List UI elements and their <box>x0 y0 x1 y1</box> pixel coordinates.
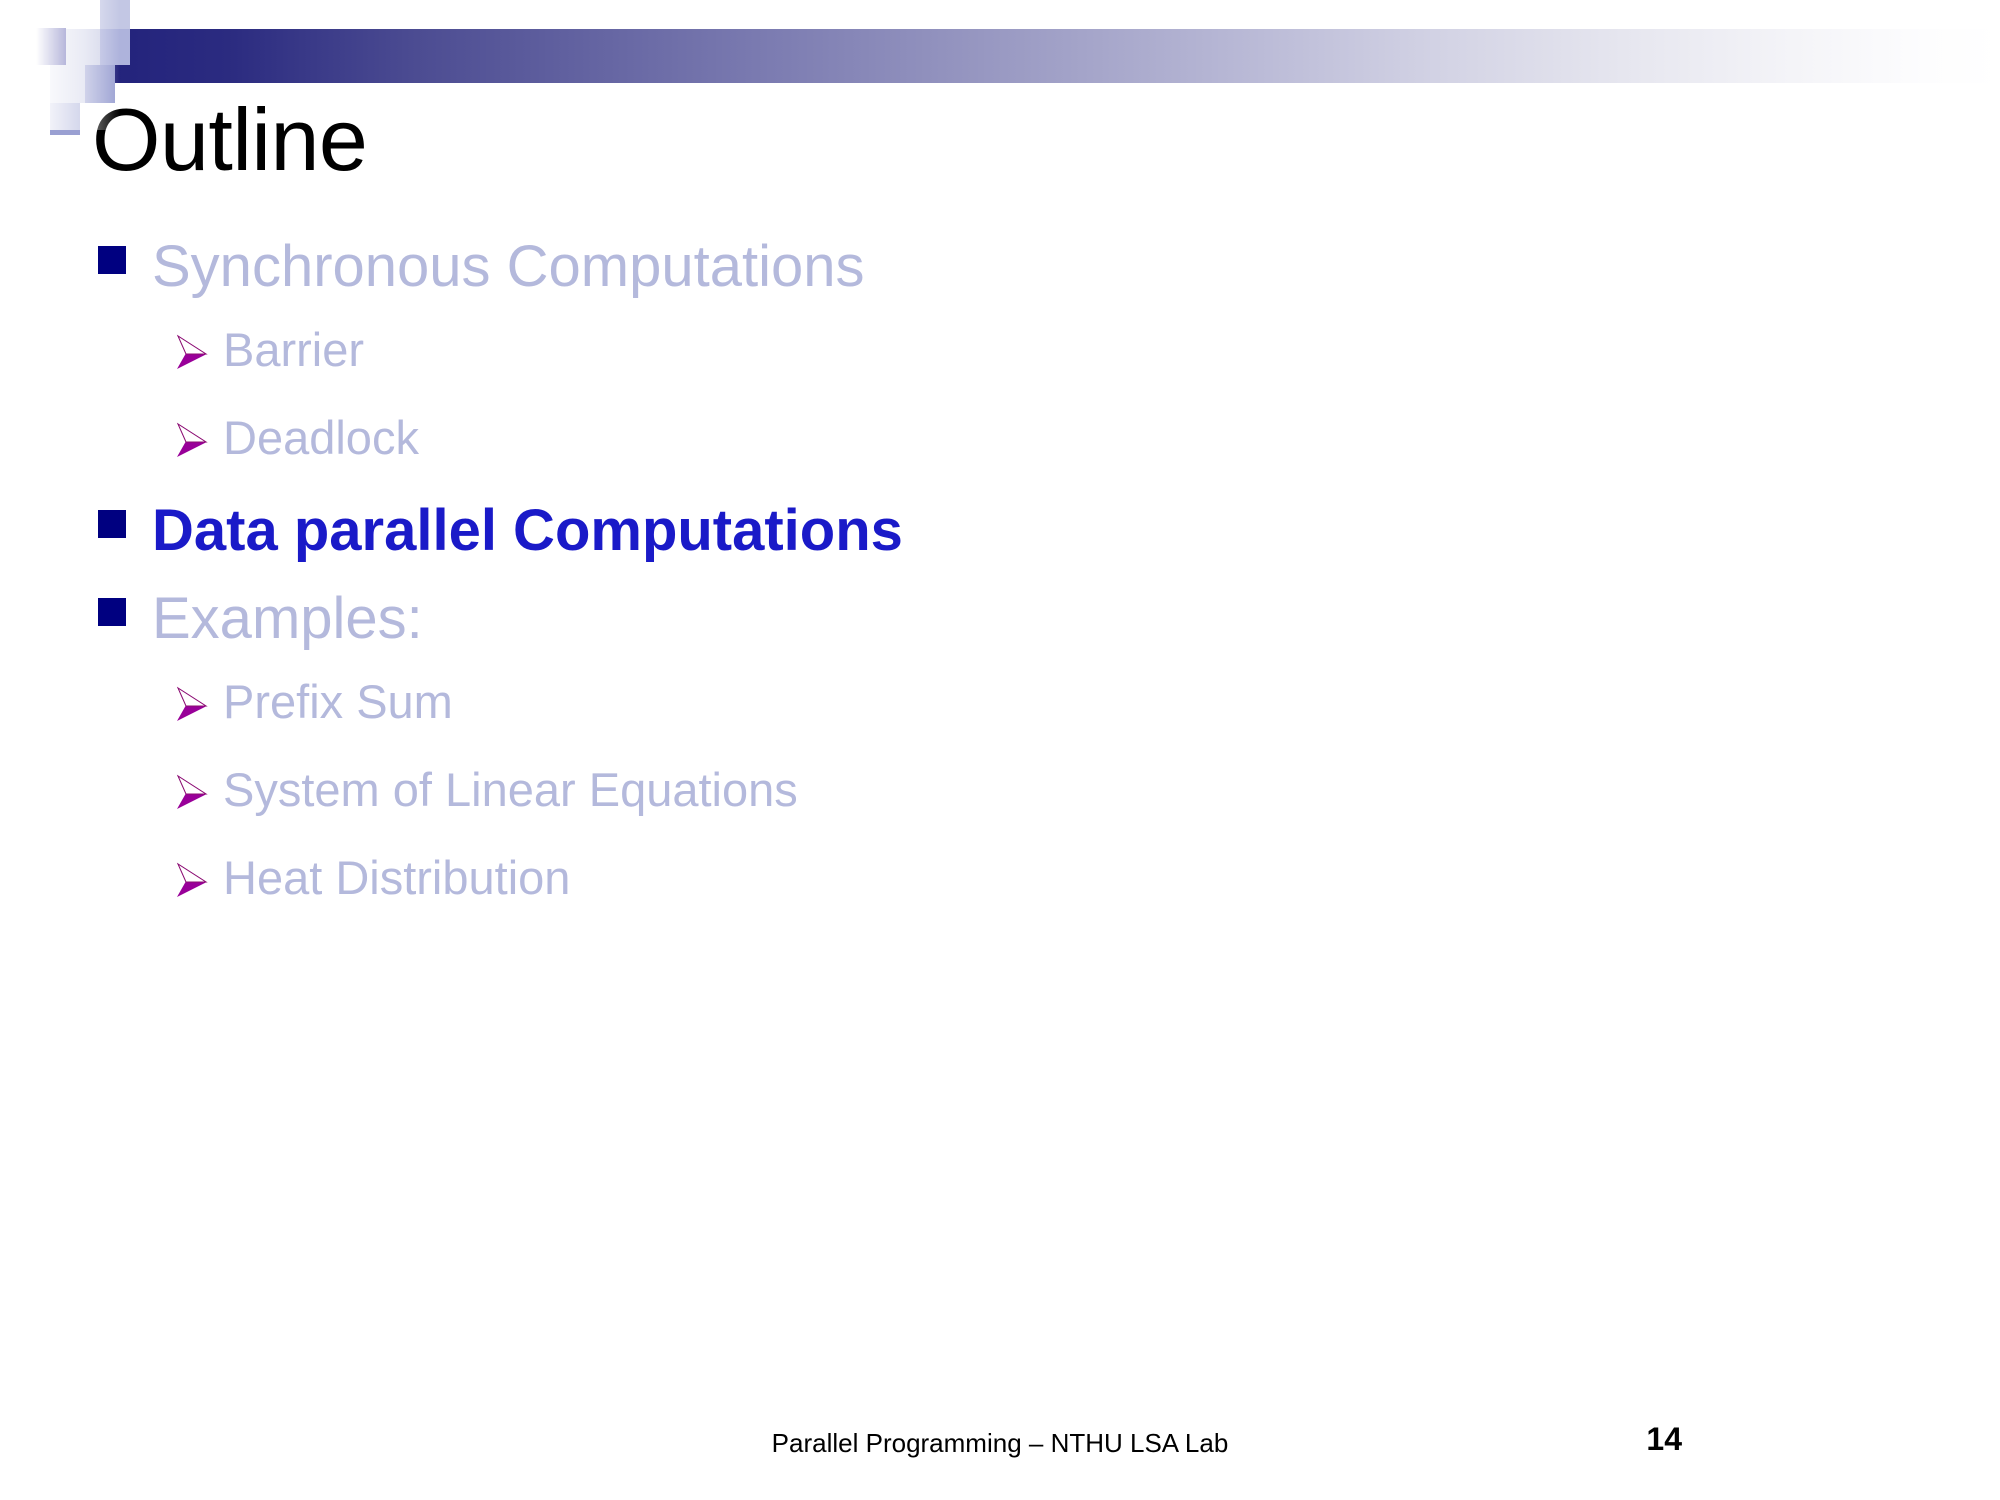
list-item-label: System of Linear Equations <box>223 766 798 813</box>
list-item[interactable]: Prefix Sum <box>175 678 1900 766</box>
list-item[interactable]: Deadlock <box>175 414 1900 502</box>
arrow-bullet-icon <box>175 772 209 812</box>
header-gradient-bar <box>115 29 2000 83</box>
list-item[interactable]: Synchronous Computations <box>98 238 1900 326</box>
list-item-label: Synchronous Computations <box>152 238 865 296</box>
arrow-bullet-icon <box>175 420 209 460</box>
square-lavender-1 <box>66 29 100 65</box>
list-item-label: Barrier <box>223 326 364 373</box>
list-item-label: Prefix Sum <box>223 678 453 725</box>
list-item[interactable]: Heat Distribution <box>175 854 1900 942</box>
list-item-highlighted[interactable]: Data parallel Computations <box>98 502 1900 590</box>
square-periwinkle-1 <box>100 0 130 29</box>
outline-list: Synchronous Computations Barrier Deadloc… <box>0 238 1900 942</box>
list-item[interactable]: Barrier <box>175 326 1900 414</box>
square-periwinkle-2 <box>100 29 130 65</box>
arrow-bullet-icon <box>175 684 209 724</box>
list-item-label: Data parallel Computations <box>152 502 903 560</box>
square-bullet-icon <box>98 598 126 626</box>
square-lavender-5 <box>50 103 80 135</box>
square-bullet-icon <box>98 510 126 538</box>
arrow-bullet-icon <box>175 860 209 900</box>
square-navy-dark <box>28 28 66 65</box>
square-bullet-icon <box>98 246 126 274</box>
square-lavender-3 <box>50 65 85 103</box>
list-item[interactable]: System of Linear Equations <box>175 766 1900 854</box>
page-title: Outline <box>92 96 367 184</box>
list-item-label: Heat Distribution <box>223 854 570 901</box>
list-item[interactable]: Examples: <box>98 590 1900 678</box>
list-item-label: Examples: <box>152 590 423 648</box>
page-number: 14 <box>1646 1421 1682 1458</box>
arrow-bullet-icon <box>175 332 209 372</box>
slide-footer: Parallel Programming – NTHU LSA Lab <box>0 1428 2000 1459</box>
list-item-label: Deadlock <box>223 414 419 461</box>
